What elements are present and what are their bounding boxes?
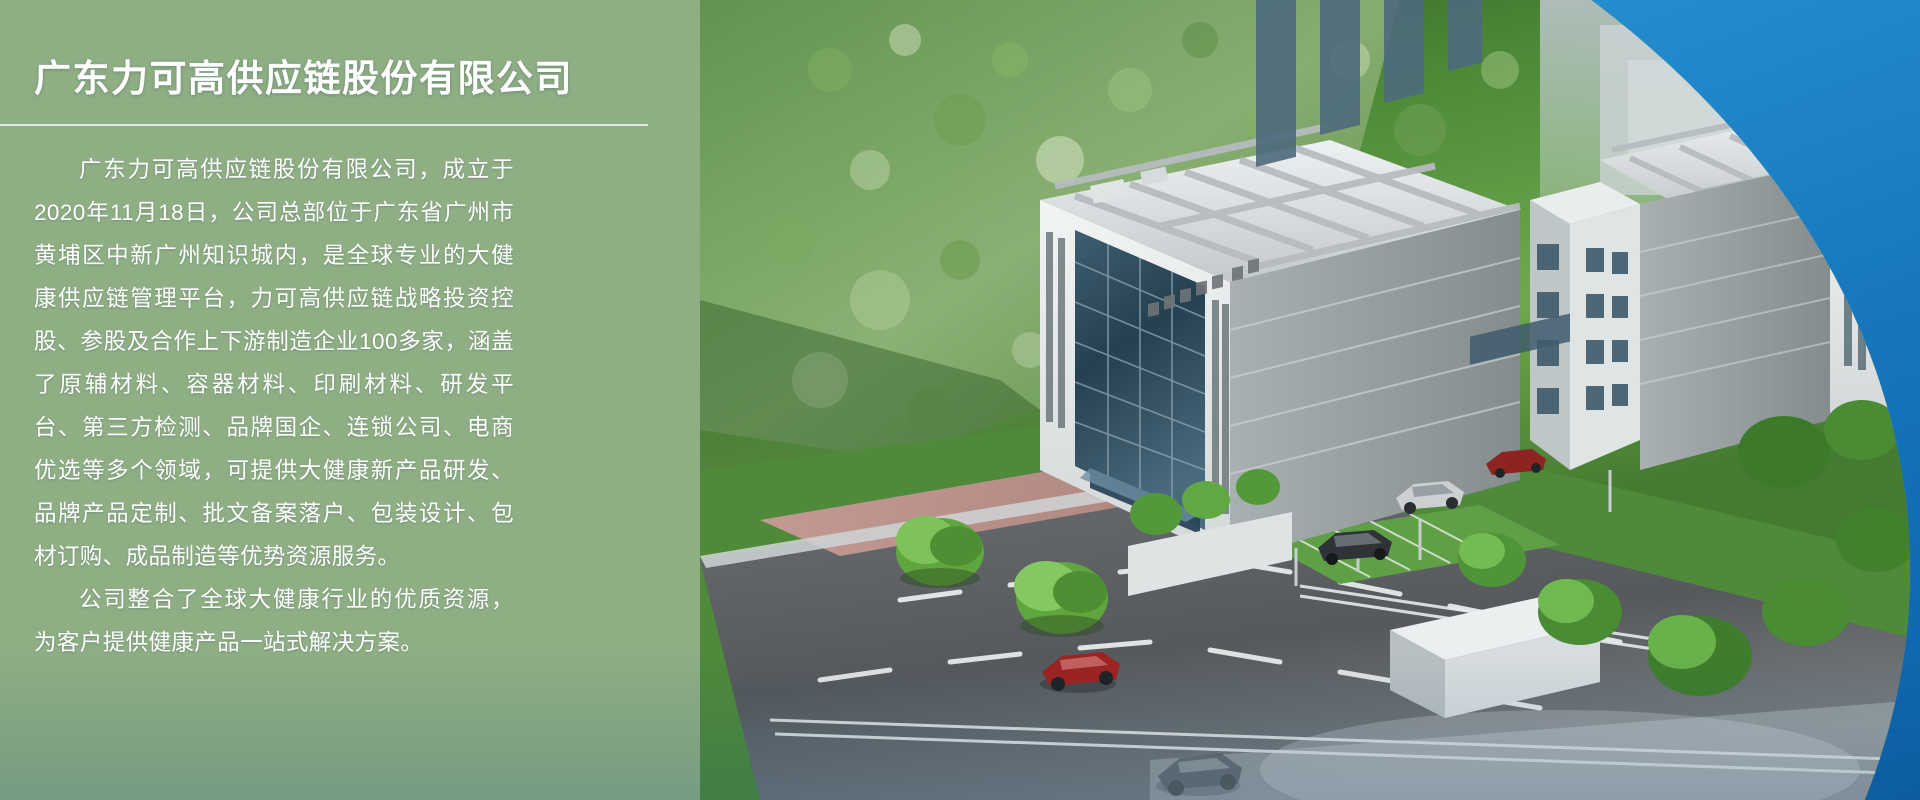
- title-divider: [0, 124, 648, 126]
- company-profile-banner: 广东力可高供应链股份有限公司 广东力可高供应链股份有限公司，成立于2020年11…: [0, 0, 1920, 800]
- info-panel: 广东力可高供应链股份有限公司 广东力可高供应链股份有限公司，成立于2020年11…: [0, 0, 700, 800]
- description-paragraph-1: 广东力可高供应链股份有限公司，成立于2020年11月18日，公司总部位于广东省广…: [34, 148, 514, 578]
- page-title: 广东力可高供应链股份有限公司: [34, 56, 700, 102]
- company-description: 广东力可高供应链股份有限公司，成立于2020年11月18日，公司总部位于广东省广…: [34, 148, 514, 664]
- description-paragraph-2: 公司整合了全球大健康行业的优质资源，为客户提供健康产品一站式解决方案。: [34, 578, 514, 664]
